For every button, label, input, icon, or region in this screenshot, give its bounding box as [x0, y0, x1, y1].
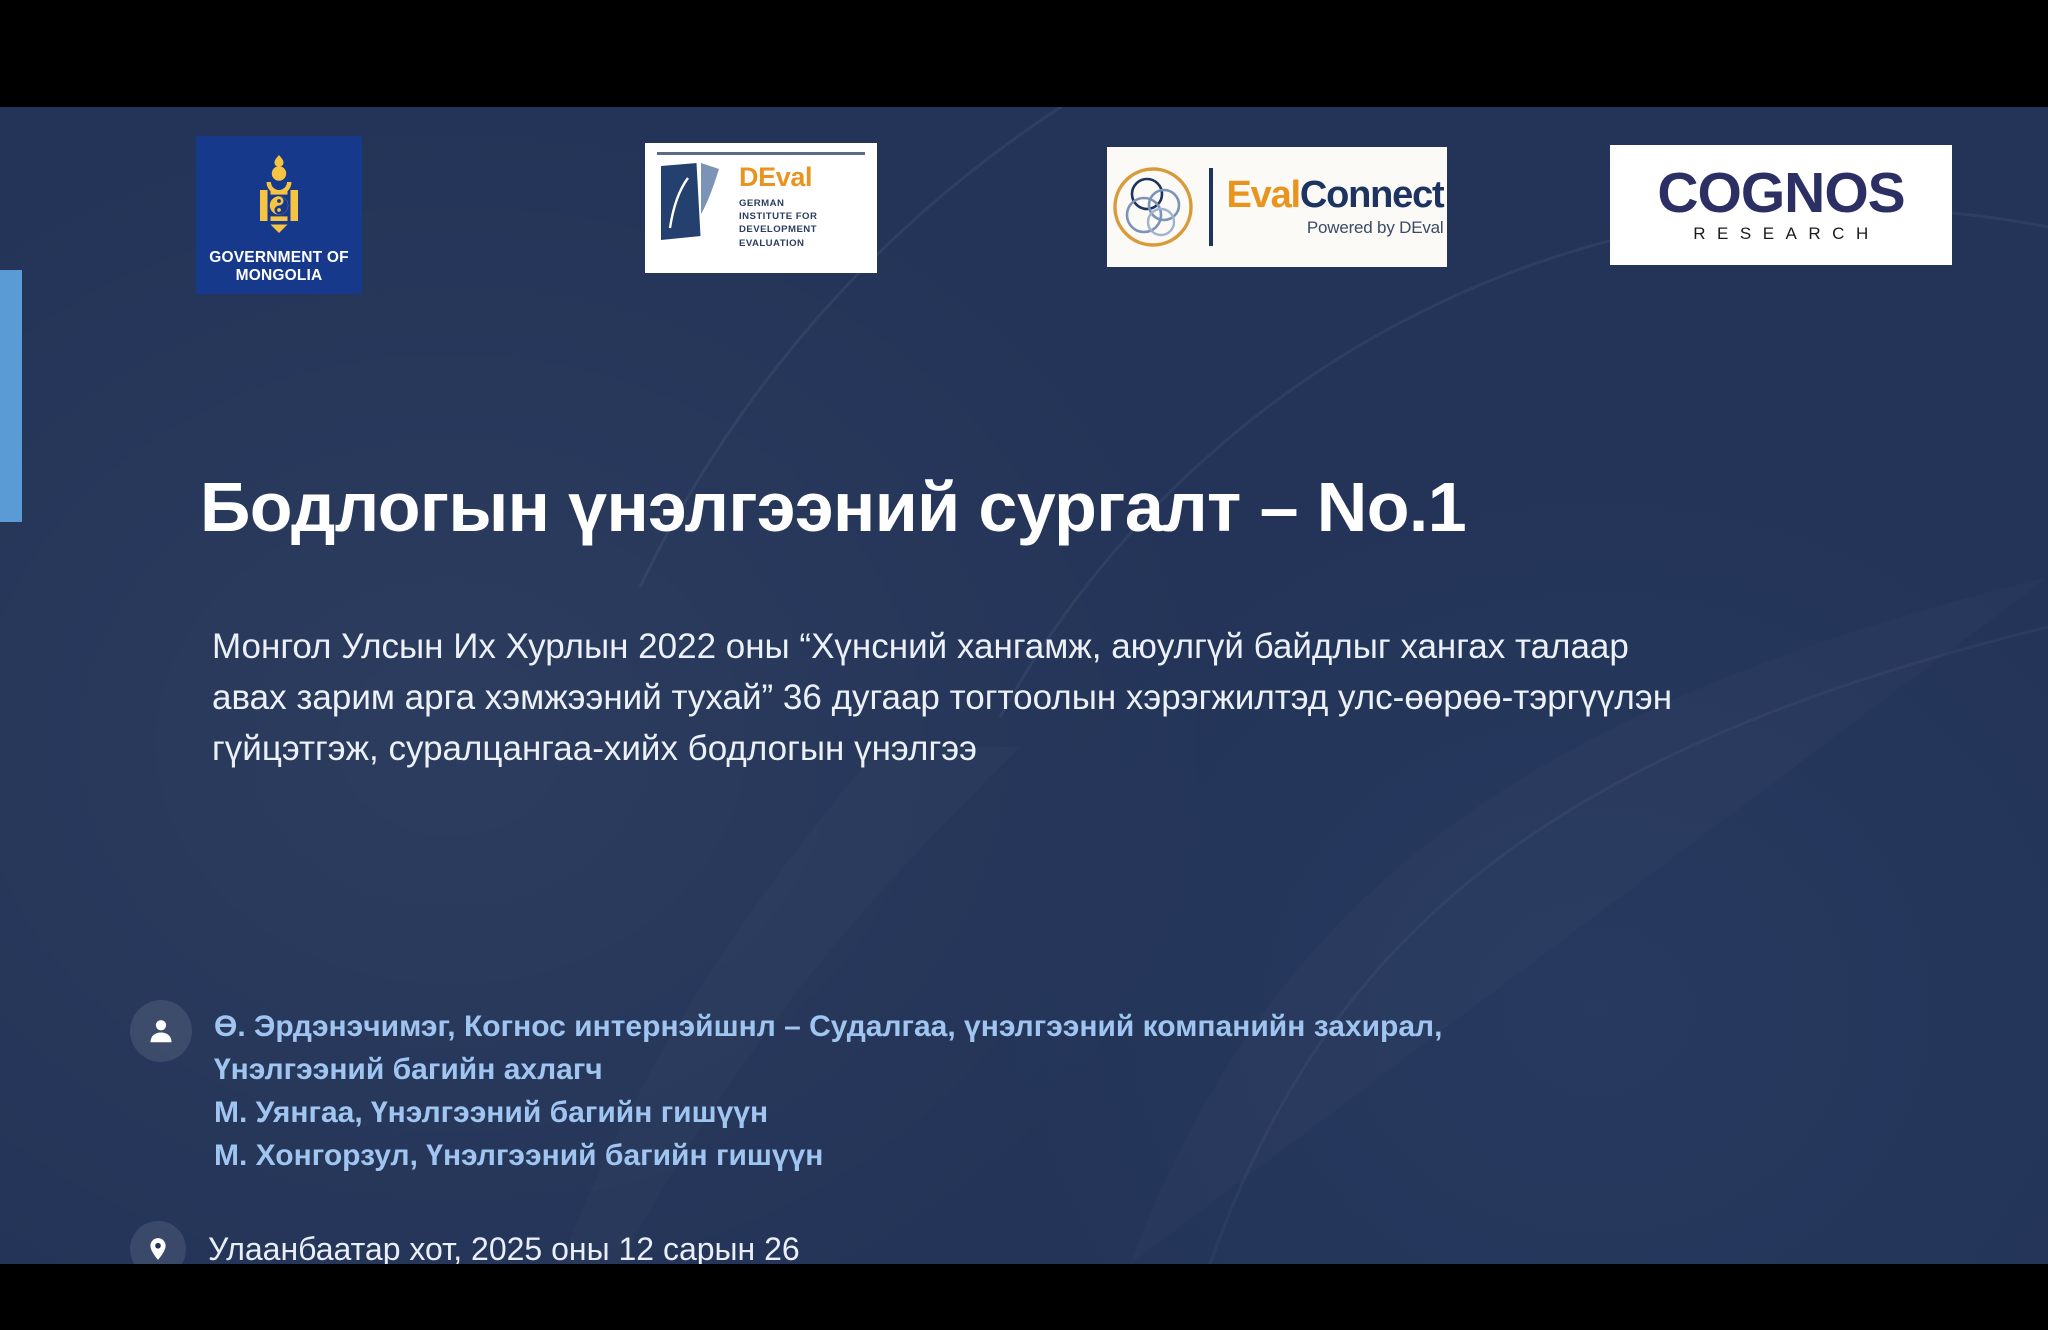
- logo-government-of-mongolia: GOVERNMENT OF MONGOLIA: [196, 136, 362, 294]
- person-icon: [130, 1000, 192, 1062]
- letterbox-bottom: [0, 1264, 2048, 1330]
- deval-subtitle: GERMAN INSTITUTE FOR DEVELOPMENT EVALUAT…: [739, 197, 817, 250]
- soyombo-icon: [246, 153, 312, 241]
- evalconnect-word-eval: Eval: [1227, 174, 1300, 216]
- letterbox-top: [0, 0, 2048, 107]
- cognos-wordmark: COGNOS: [1620, 166, 1942, 222]
- gov-label-line2: MONGOLIA: [209, 267, 349, 285]
- map-pin-icon: [130, 1221, 186, 1264]
- author-line-3: М. Уянгаа, Үнэлгээний багийн гишүүн: [214, 1092, 1442, 1135]
- cognos-subtitle: RESEARCH: [1620, 224, 1942, 244]
- evalconnect-wordmark: EvalConnect: [1227, 176, 1444, 214]
- authors-block: Ө. Эрдэнэчимэг, Когнос интернэйшнл – Суд…: [130, 1000, 1442, 1178]
- logo-cognos-research: COGNOS RESEARCH: [1610, 145, 1952, 265]
- slide-stage: GOVERNMENT OF MONGOLIA: [0, 0, 2048, 1330]
- authors-list: Ө. Эрдэнэчимэг, Когнос интернэйшнл – Суд…: [214, 1000, 1442, 1178]
- evalconnect-circles-icon: [1111, 165, 1195, 249]
- author-line-2: Үнэлгээний багийн ахлагч: [214, 1049, 1442, 1092]
- deval-subtitle-line3: DEVELOPMENT: [739, 223, 817, 236]
- logo-deval: DEval GERMAN INSTITUTE FOR DEVELOPMENT E…: [645, 143, 877, 273]
- deval-subtitle-line4: EVALUATION: [739, 237, 817, 250]
- deval-mark-icon: [657, 162, 727, 244]
- deval-wordmark: DEval: [739, 164, 817, 191]
- government-of-mongolia-label: GOVERNMENT OF MONGOLIA: [209, 249, 349, 285]
- partner-logo-row: GOVERNMENT OF MONGOLIA: [0, 107, 2048, 367]
- slide-subtitle: Монгол Улсын Их Хурлын 2022 оны “Хүнсний…: [212, 622, 1712, 774]
- logo-evalconnect: EvalConnect Powered by DEval: [1107, 147, 1447, 267]
- evalconnect-word-connect: Connect: [1300, 174, 1444, 216]
- evalconnect-divider: [1209, 168, 1213, 246]
- gov-label-line1: GOVERNMENT OF: [209, 249, 349, 267]
- place-date-text: Улаанбаатар хот, 2025 оны 12 сарын 26: [208, 1229, 800, 1264]
- author-line-4: М. Хонгорзул, Үнэлгээний багийн гишүүн: [214, 1135, 1442, 1178]
- author-line-1: Ө. Эрдэнэчимэг, Когнос интернэйшнл – Суд…: [214, 1006, 1442, 1049]
- place-date-block: Улаанбаатар хот, 2025 оны 12 сарын 26: [130, 1221, 800, 1264]
- slide-title: Бодлогын үнэлгээний сургалт – No.1: [200, 470, 1840, 544]
- evalconnect-tagline: Powered by DEval: [1307, 218, 1444, 238]
- deval-subtitle-line2: INSTITUTE FOR: [739, 210, 817, 223]
- presentation-slide: GOVERNMENT OF MONGOLIA: [0, 107, 2048, 1264]
- deval-subtitle-line1: GERMAN: [739, 197, 817, 210]
- deval-rule: [657, 152, 865, 155]
